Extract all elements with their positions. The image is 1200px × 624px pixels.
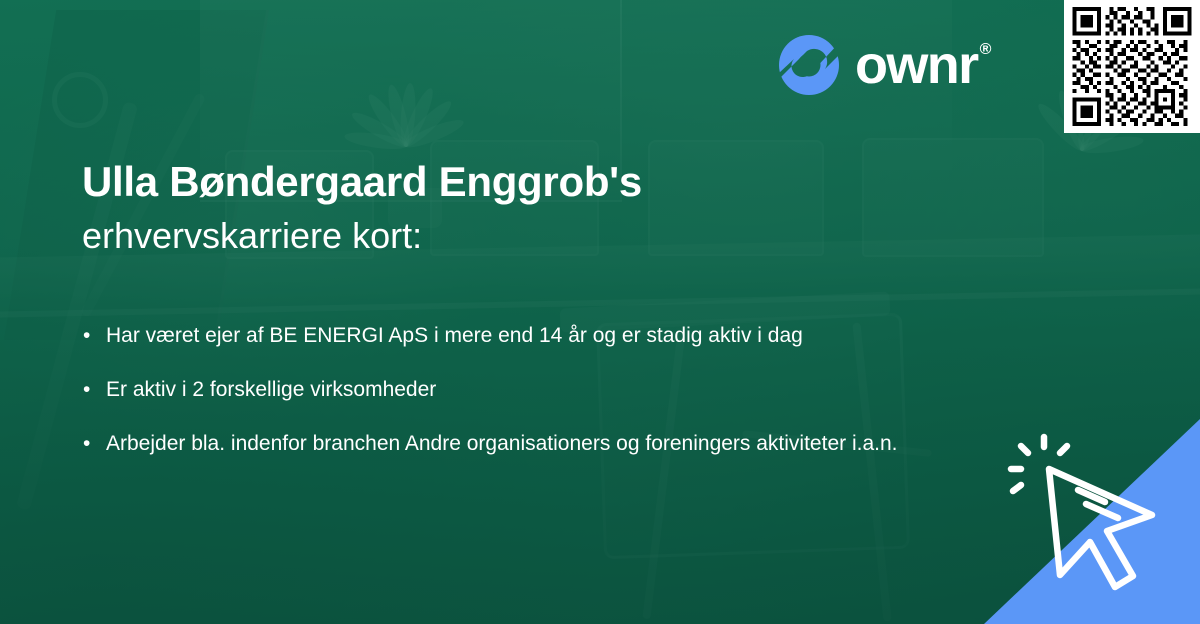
page-title: Ulla Bøndergaard Enggrob's erhvervskarri…	[82, 158, 942, 260]
registered-mark: ®	[980, 42, 990, 58]
qr-code[interactable]	[1064, 0, 1200, 133]
headline-line-1: Ulla Bøndergaard Enggrob's	[82, 158, 942, 207]
qr-code-icon	[1071, 7, 1193, 126]
list-item: Arbejder bla. indenfor branchen Andre or…	[80, 424, 960, 465]
ownr-wordmark: ownr ®	[855, 38, 990, 92]
promo-card: ownr ®	[0, 0, 1200, 624]
ownr-circular-swoosh-icon	[777, 33, 841, 97]
ownr-logo[interactable]: ownr ®	[777, 33, 990, 97]
career-facts-list: Har været ejer af BE ENERGI ApS i mere e…	[80, 316, 960, 478]
corner-triangle	[984, 419, 1200, 624]
list-item: Er aktiv i 2 forskellige virksomheder	[80, 370, 960, 411]
ownr-wordmark-text: ownr	[855, 38, 978, 92]
headline-line-2: erhvervskarriere kort:	[82, 213, 942, 260]
corner-accent	[984, 419, 1200, 624]
list-item: Har været ejer af BE ENERGI ApS i mere e…	[80, 316, 960, 357]
